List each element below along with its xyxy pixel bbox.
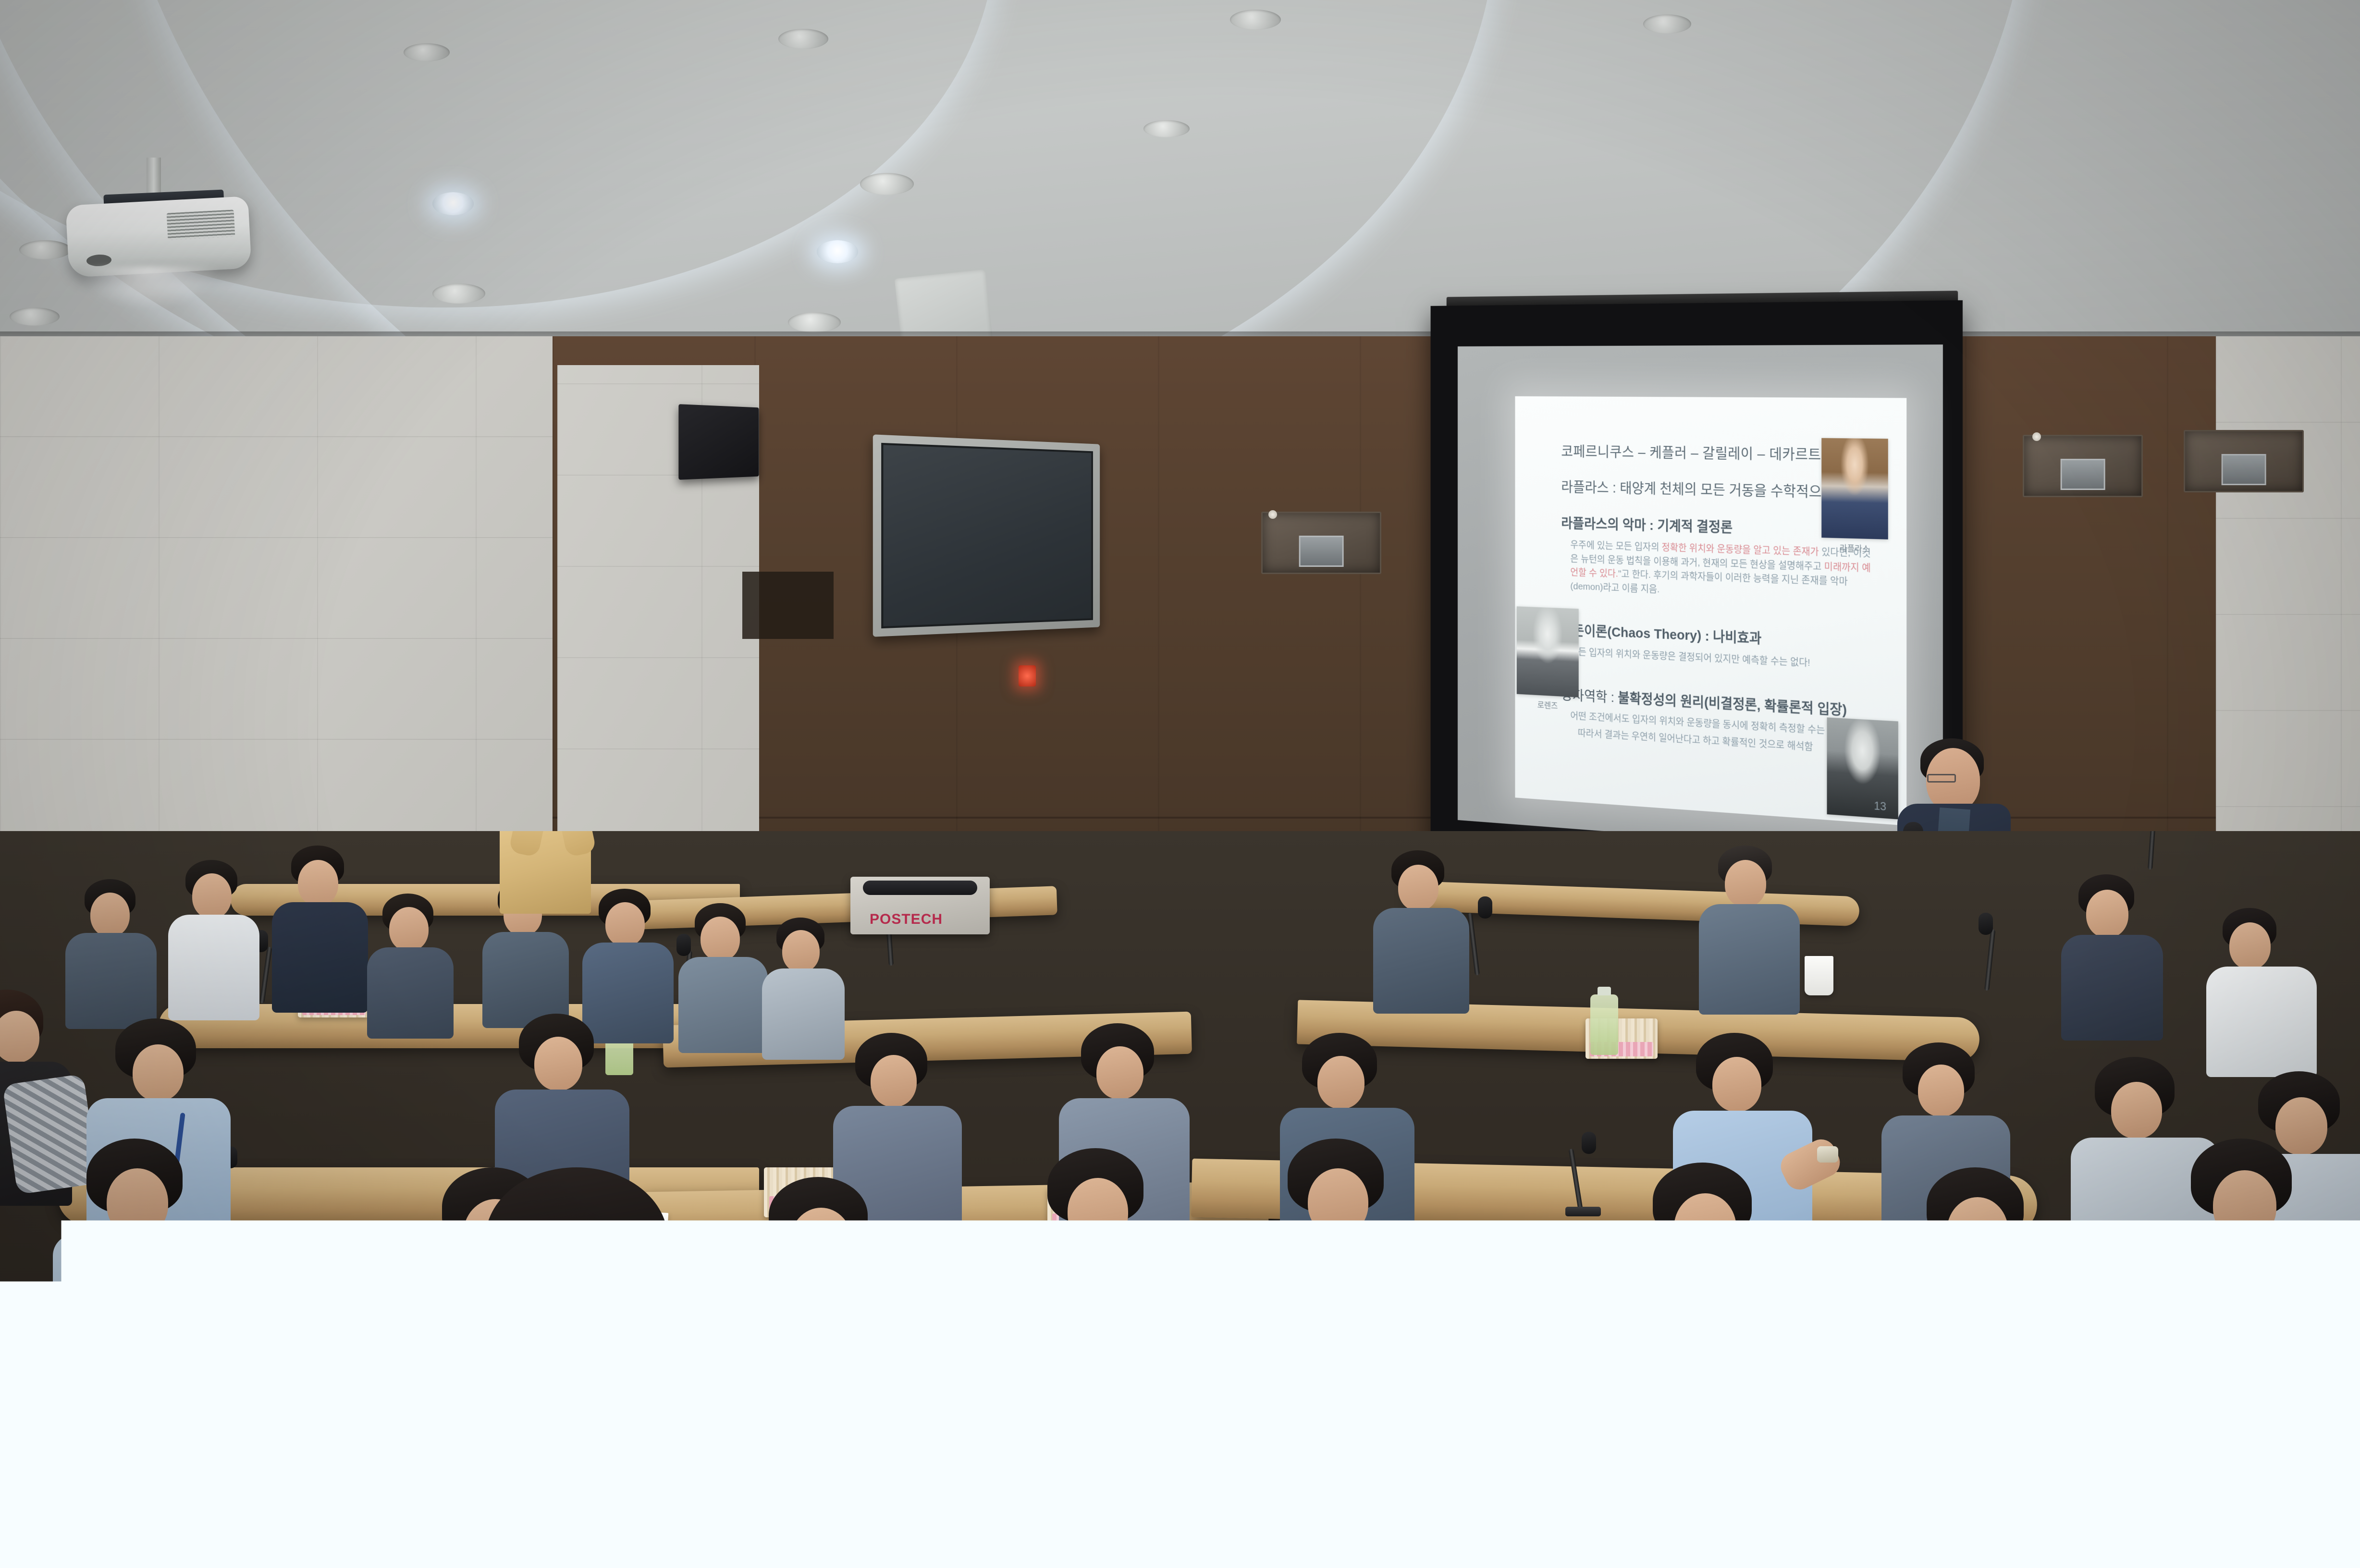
torso [582,943,674,1043]
torso [2206,967,2317,1077]
head [1068,1178,1128,1245]
glasses-icon [633,1265,676,1283]
wall-control-panel [2222,454,2266,485]
wall-mounted-monitor [873,434,1100,637]
ceiling-downlight [788,312,841,332]
head [1317,1056,1364,1109]
wristwatch [1817,1146,1838,1163]
monitor-screen [881,443,1093,628]
head [1725,860,1766,907]
head [2275,1097,2327,1155]
ceiling-downlight [1643,14,1691,34]
head [701,917,740,961]
torso [272,902,368,1013]
torso [807,1518,1326,1568]
s1-body-a: 우주에 있는 모든 입자의 [1570,539,1661,552]
gooseneck-microphone [2148,831,2157,870]
head [1674,1193,1736,1262]
wall-control-recess [2184,430,2304,492]
head [389,907,429,951]
head [2086,890,2128,938]
microphone-head [1582,1132,1596,1154]
head-hair [1413,1287,1619,1456]
torso [367,947,454,1039]
ceiling-projector [58,163,255,288]
microphone-head [1979,913,1993,935]
ceiling-downlight [404,43,450,61]
gooseneck-microphone [1984,929,1995,991]
ceiling-downlight [778,29,828,49]
microphone-head [676,934,691,956]
torso [678,957,768,1053]
wall-indicator-dot [2032,432,2041,441]
right-stone-wall [2216,336,2360,903]
ceiling-downlight [432,283,485,304]
torso [2162,1393,2360,1568]
gooseneck-microphone [1467,913,1480,975]
slide-line-1-text: 코페르니쿠스 – 케플러 – 갈릴레이 – 데카르트 - [1561,443,1834,463]
head [2111,1082,2162,1139]
lorenz-portrait-image [1517,606,1579,697]
head [2213,1170,2276,1240]
microphone-base [1565,1207,1601,1216]
photographer [480,831,625,913]
head [107,1168,168,1237]
projector-vent-grille [167,209,235,240]
ceiling-downlight [860,173,914,195]
bottle-cap [1598,987,1611,995]
postech-logo-chair: POSTECH [870,911,943,928]
laplace-portrait: 라플라스 [1821,438,1888,556]
patterned-scarf [2,1074,98,1194]
head [1096,1046,1143,1099]
torso [762,968,845,1060]
glasses-icon [1927,774,1956,783]
head-hair [903,1311,1206,1537]
chair-handle-grip [863,881,977,895]
chair [298,1518,682,1568]
audience-seating-area: POSTECH [0,831,2360,1568]
torso [2061,935,2163,1041]
water-bottle [1590,994,1618,1055]
laplace-portrait-image [1821,438,1888,539]
wall-dark-panel [742,572,834,639]
lecture-hall-photo: 코페르니쿠스 – 케플러 – 갈릴레이 – 데카르트 - 뉴턴 라플라스 : 태… [0,0,2360,1568]
ceiling-downlight [1230,10,1281,30]
head [192,873,232,919]
head [871,1055,917,1107]
head [1918,1065,1964,1116]
laplace-caption: 라플라스 [1821,541,1888,555]
torso [65,933,157,1029]
ceiling-downlight [10,307,60,326]
chair-handle-fixture: POSTECH [850,877,990,934]
head [133,1044,184,1101]
head [782,930,820,972]
wall-control-recess [2023,435,2143,497]
wall-speaker [678,404,759,480]
projector-light-beam [77,267,221,310]
wall-control-recess [1261,512,1381,574]
s1-body-red-a: 정확한 위치와 운동량을 알고 있는 존재가 [1662,542,1819,557]
screen-surface: 코페르니쿠스 – 케플러 – 갈릴레이 – 데카르트 - 뉴턴 라플라스 : 태… [1458,344,1943,857]
head [298,860,338,906]
torso [1619,1261,1802,1467]
ceiling-downlight [432,192,474,215]
head [2229,922,2271,969]
torso [1699,904,1800,1015]
torso [1850,1403,2167,1568]
wall-indicator-dot [1268,510,1277,519]
ceiling-downlight [817,240,858,263]
paper-cup [1805,956,1833,995]
lorenz-caption: 로렌즈 [1517,698,1579,713]
torso [168,915,259,1020]
microphone-head [1478,896,1492,919]
head [1398,865,1438,911]
head-hair [1893,1254,2095,1412]
gooseneck-microphone [259,946,272,1003]
wall-control-panel [1299,536,1344,566]
head [1712,1057,1761,1112]
torso [1373,908,1469,1014]
ceiling-downlight [1143,120,1190,137]
presentation-slide: 코페르니쿠스 – 케플러 – 갈릴레이 – 데카르트 - 뉴턴 라플라스 : 태… [1515,396,1906,826]
head [90,893,130,937]
head [1308,1168,1368,1236]
lorenz-portrait: 로렌즈 [1517,606,1579,712]
head [534,1037,582,1090]
emergency-exit-light [1019,665,1036,686]
wall-control-panel [2061,459,2105,490]
